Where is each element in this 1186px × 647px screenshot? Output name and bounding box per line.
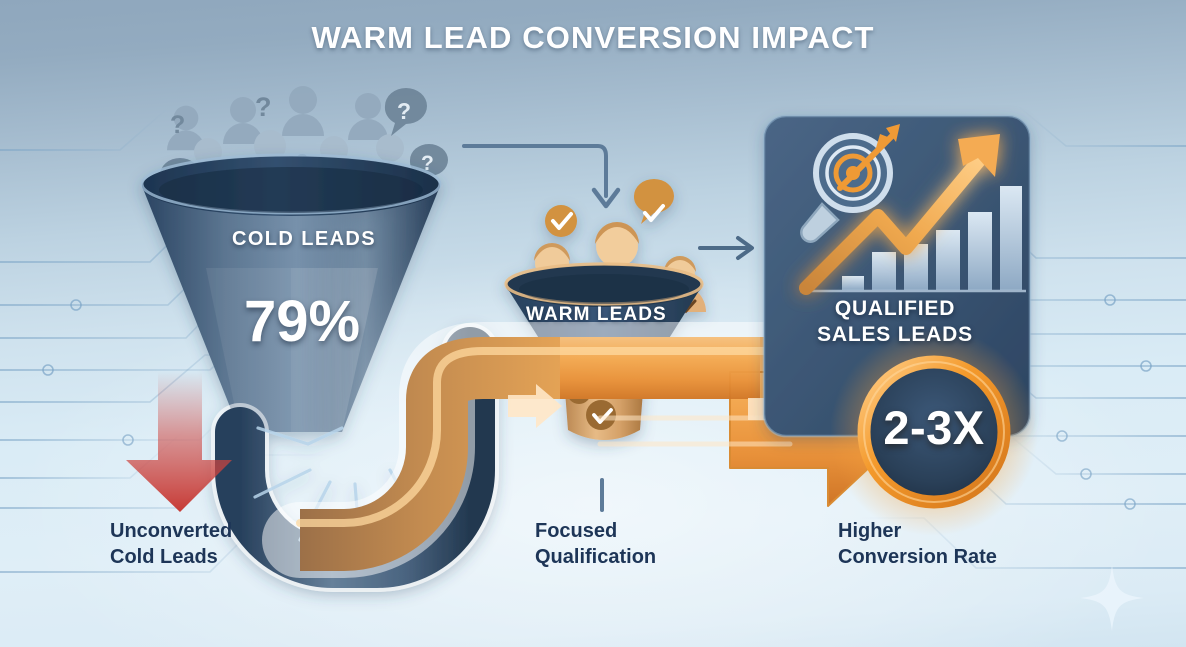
- warm-funnel-label: WARM LEADS: [526, 304, 667, 326]
- caption-line2: Conversion Rate: [838, 544, 1088, 570]
- caption-line1: Focused: [535, 518, 765, 544]
- caption-focused-qualification: Focused Qualification: [535, 518, 765, 570]
- page-title: WARM LEAD CONVERSION IMPACT: [0, 20, 1186, 56]
- caption-line2: Qualification: [535, 544, 765, 570]
- qualified-label-line1: QUALIFIED: [795, 296, 995, 322]
- cold-percentage: 79%: [244, 288, 360, 355]
- caption-line2: Cold Leads: [110, 544, 340, 570]
- multiplier-value: 2-3X: [851, 400, 1017, 455]
- infographic-canvas: ? ? ? ? ? ? ?: [0, 0, 1186, 647]
- qualified-label-line2: SALES LEADS: [795, 322, 995, 348]
- cold-funnel-label: COLD LEADS: [232, 228, 376, 251]
- caption-higher-conversion-rate: Higher Conversion Rate: [838, 518, 1088, 570]
- svg-text:?: ?: [397, 98, 411, 124]
- qualified-panel-label: QUALIFIED SALES LEADS: [795, 296, 995, 348]
- elbow-arrow-icon: [464, 146, 618, 206]
- caption-line1: Higher: [838, 518, 1088, 544]
- caption-unconverted-cold-leads: Unconverted Cold Leads: [110, 518, 340, 570]
- caption-line1: Unconverted: [110, 518, 340, 544]
- svg-text:?: ?: [255, 92, 272, 122]
- right-arrow-icon: [700, 238, 752, 258]
- svg-text:?: ?: [170, 111, 185, 139]
